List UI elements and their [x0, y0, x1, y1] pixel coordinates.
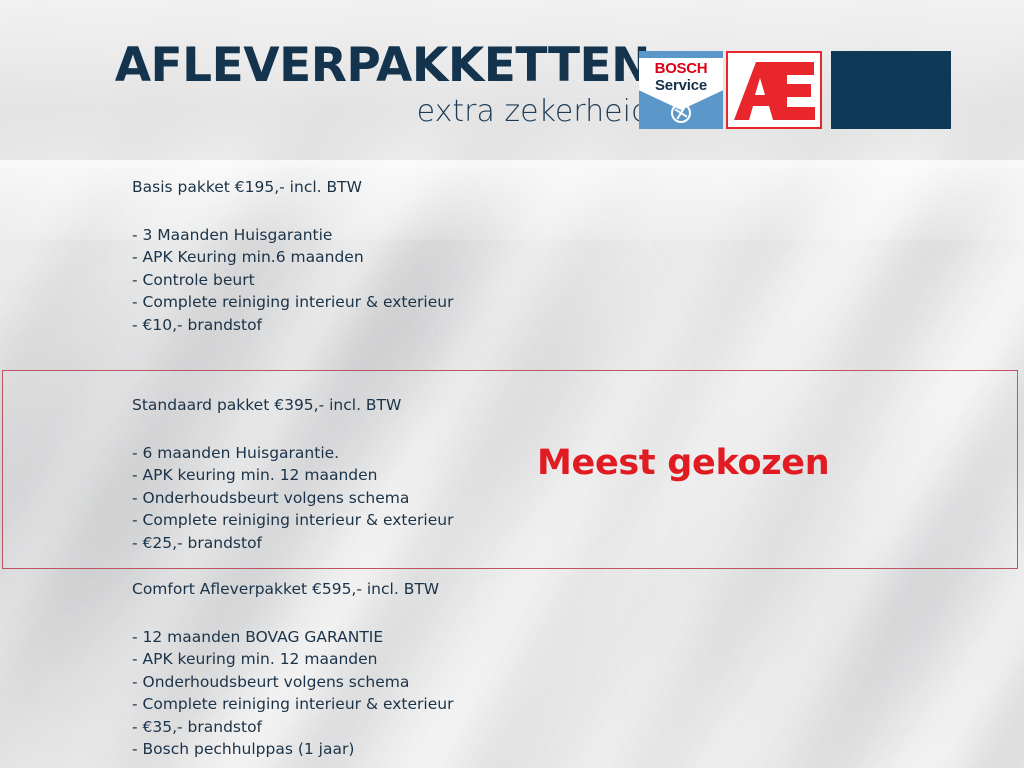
bosch-service-label: Service	[639, 78, 723, 93]
package-standaard-title: Standaard pakket €395,- incl. BTW	[132, 398, 453, 414]
ae-logo	[726, 51, 822, 129]
list-item: - Onderhoudsbeurt volgens schema	[132, 671, 453, 694]
list-item: - Complete reiniging interieur & exterie…	[132, 291, 453, 314]
list-item: - €25,- brandstof	[132, 532, 453, 555]
page-subtitle: extra zekerheid	[60, 97, 650, 127]
most-chosen-label: Meest gekozen	[537, 446, 829, 481]
package-comfort-title: Comfort Afleverpakket €595,- incl. BTW	[132, 582, 453, 598]
bosch-service-logo: BOSCH Service	[639, 51, 723, 129]
list-item: - APK Keuring min.6 maanden	[132, 246, 453, 269]
list-item: - Bosch pechhulppas (1 jaar)	[132, 738, 453, 761]
list-item: - Complete reiniging interieur & exterie…	[132, 509, 453, 532]
bosch-wordmark: BOSCH	[639, 61, 723, 76]
slide-canvas: AFLEVERPAKKETTEN extra zekerheid BOSCH S…	[0, 0, 1024, 768]
list-item: - 6 maanden Huisgarantie.	[132, 442, 453, 465]
package-basis-feature-list: - 3 Maanden Huisgarantie - APK Keuring m…	[132, 224, 453, 337]
navy-logo-block	[831, 51, 951, 129]
package-comfort-feature-list: - 12 maanden BOVAG GARANTIE - APK keurin…	[132, 626, 453, 761]
ae-monogram-icon	[734, 60, 816, 122]
list-item: - 12 maanden BOVAG GARANTIE	[132, 626, 453, 649]
list-item: - €35,- brandstof	[132, 716, 453, 739]
package-basis: Basis pakket €195,- incl. BTW - 3 Maande…	[132, 180, 453, 336]
package-standaard: Standaard pakket €395,- incl. BTW - 6 ma…	[132, 398, 453, 554]
list-item: - Controle beurt	[132, 269, 453, 292]
package-comfort: Comfort Afleverpakket €595,- incl. BTW -…	[132, 582, 453, 761]
list-item: - APK keuring min. 12 maanden	[132, 464, 453, 487]
package-standaard-feature-list: - 6 maanden Huisgarantie. - APK keuring …	[132, 442, 453, 555]
list-item: - Onderhoudsbeurt volgens schema	[132, 487, 453, 510]
bosch-armature-icon	[671, 103, 691, 123]
package-basis-title: Basis pakket €195,- incl. BTW	[132, 180, 453, 196]
slide-header: AFLEVERPAKKETTEN extra zekerheid BOSCH S…	[0, 0, 1024, 150]
title-block: AFLEVERPAKKETTEN extra zekerheid	[60, 42, 650, 127]
list-item: - €10,- brandstof	[132, 314, 453, 337]
page-title: AFLEVERPAKKETTEN	[60, 42, 650, 89]
list-item: - 3 Maanden Huisgarantie	[132, 224, 453, 247]
list-item: - Complete reiniging interieur & exterie…	[132, 693, 453, 716]
list-item: - APK keuring min. 12 maanden	[132, 648, 453, 671]
